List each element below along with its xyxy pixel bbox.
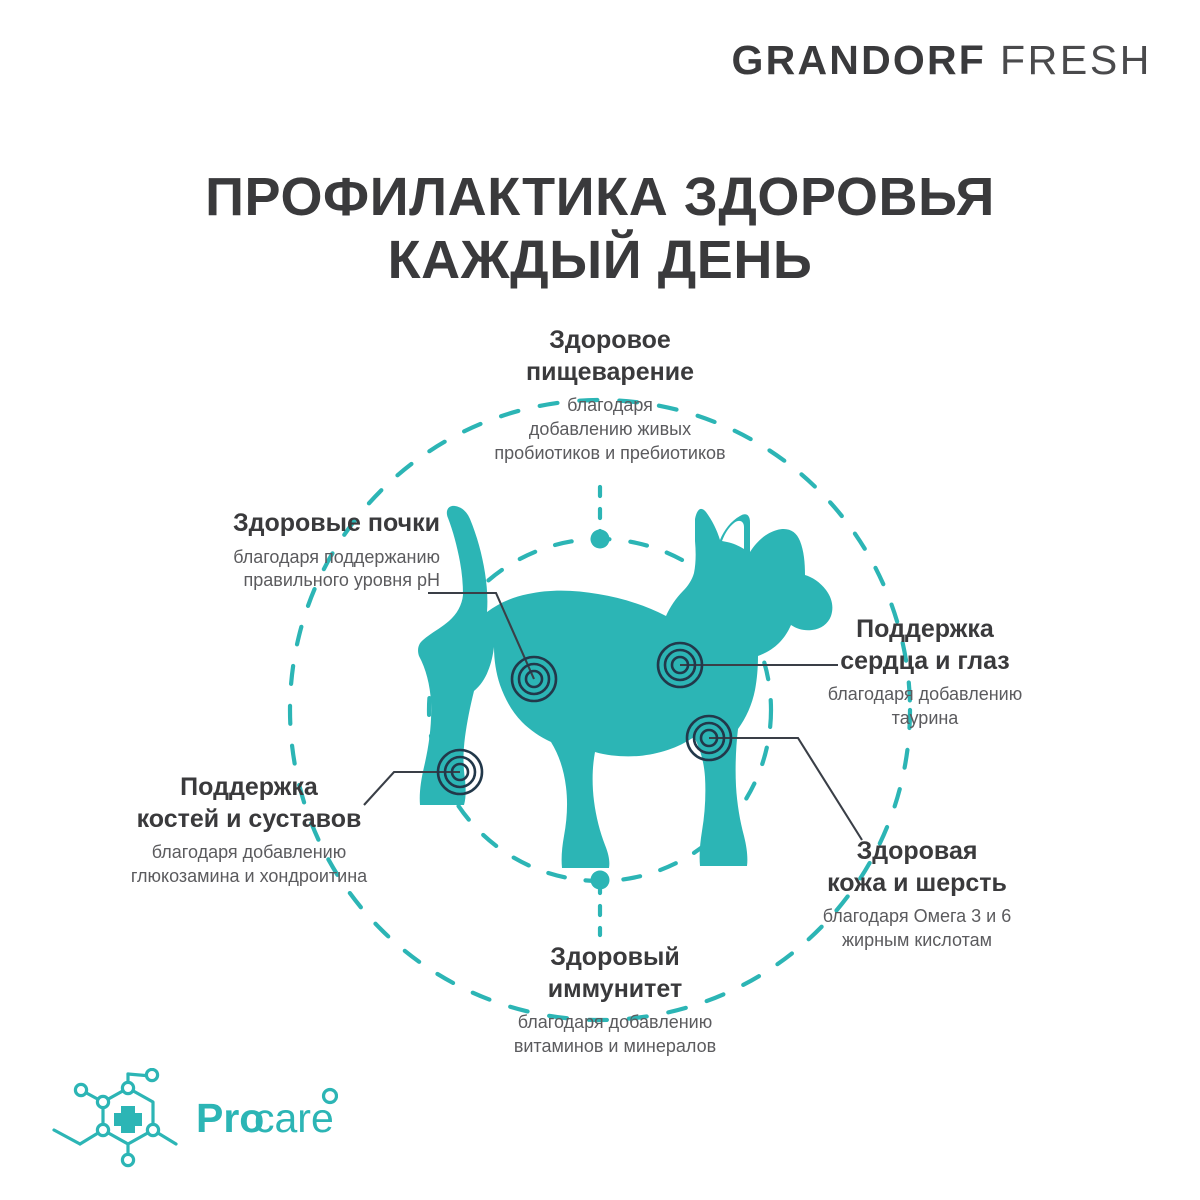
callout-skin-coat-title-line-1: Здоровая — [857, 837, 978, 865]
callout-bones-joints: Поддержка костей и суставов благодаря до… — [64, 772, 434, 889]
callout-bones-joints-title: Поддержка костей и суставов — [64, 772, 434, 835]
callout-skin-coat-title-line-2: кожа и шерсть — [827, 869, 1007, 897]
callout-bones-joints-title-line-1: Поддержка — [180, 773, 318, 801]
callout-heart-eyes-title: Поддержка сердца и глаз — [760, 614, 1090, 677]
callout-heart-eyes-desc-line-2: таурина — [892, 708, 959, 728]
digestion-dot — [591, 530, 610, 549]
callout-heart-eyes-desc: благодаря добавлению таурина — [760, 683, 1090, 731]
callout-bones-joints-desc-line-1: благодаря добавлению — [152, 842, 346, 862]
callout-digestion-desc: благодаря добавлению живых пробиотиков и… — [380, 394, 840, 465]
callout-heart-eyes: Поддержка сердца и глаз благодаря добавл… — [760, 614, 1090, 731]
callout-kidneys-desc: благодаря поддержанию правильного уровня… — [90, 546, 440, 594]
callout-skin-coat-desc-line-1: благодаря Омега 3 и 6 — [823, 906, 1012, 926]
callout-digestion-desc-line-1: благодаря — [567, 395, 653, 415]
callout-digestion-desc-line-2: добавлению живых — [529, 419, 691, 439]
callout-immunity-desc-line-1: благодаря добавлению — [518, 1012, 712, 1032]
callout-immunity-desc: благодаря добавлению витаминов и минерал… — [450, 1011, 780, 1059]
callout-bones-joints-desc: благодаря добавлению глюкозамина и хондр… — [64, 841, 434, 889]
callout-kidneys-desc-line-1: благодаря поддержанию — [233, 547, 440, 567]
callout-immunity: Здоровый иммунитет благодаря добавлению … — [450, 942, 780, 1059]
callout-heart-eyes-desc-line-1: благодаря добавлению — [828, 684, 1022, 704]
callout-digestion-desc-line-3: пробиотиков и пребиотиков — [494, 443, 725, 463]
callout-kidneys-title-line-1: Здоровые почки — [233, 509, 440, 537]
callout-immunity-title-line-1: Здоровый — [550, 943, 679, 971]
callout-heart-eyes-title-line-2: сердца и глаз — [840, 647, 1009, 675]
infographic-poster: GRANDORF FRESH ПРОФИЛАКТИКА ЗДОРОВЬЯ КАЖ… — [0, 0, 1200, 1200]
callout-kidneys-title: Здоровые почки — [90, 508, 440, 540]
callout-kidneys-desc-line-2: правильного уровня pH — [244, 570, 440, 590]
callout-skin-coat-desc-line-2: жирным кислотам — [842, 930, 992, 950]
procare-logo: Pro care — [48, 1068, 338, 1172]
callout-digestion-title: Здоровое пищеварение — [380, 325, 840, 388]
callout-bones-joints-desc-line-2: глюкозамина и хондроитина — [131, 866, 367, 886]
callout-digestion-title-line-1: Здоровое — [549, 326, 671, 354]
callout-immunity-desc-line-2: витаминов и минералов — [514, 1036, 716, 1056]
plus-icon — [114, 1106, 142, 1133]
callout-immunity-title: Здоровый иммунитет — [450, 942, 780, 1005]
procare-name-light: care — [254, 1095, 334, 1141]
callout-digestion: Здоровое пищеварение благодаря добавлени… — [380, 325, 840, 465]
callout-skin-coat: Здоровая кожа и шерсть благодаря Омега 3… — [752, 836, 1082, 953]
callout-skin-coat-desc: благодаря Омега 3 и 6 жирным кислотам — [752, 905, 1082, 953]
callout-digestion-title-line-2: пищеварение — [526, 358, 694, 386]
immunity-dot — [591, 871, 610, 890]
callout-immunity-title-line-2: иммунитет — [548, 975, 682, 1003]
callout-heart-eyes-title-line-1: Поддержка — [856, 615, 994, 643]
callout-bones-joints-title-line-2: костей и суставов — [137, 805, 362, 833]
callout-kidneys: Здоровые почки благодаря поддержанию пра… — [90, 508, 440, 593]
callout-skin-coat-title: Здоровая кожа и шерсть — [752, 836, 1082, 899]
